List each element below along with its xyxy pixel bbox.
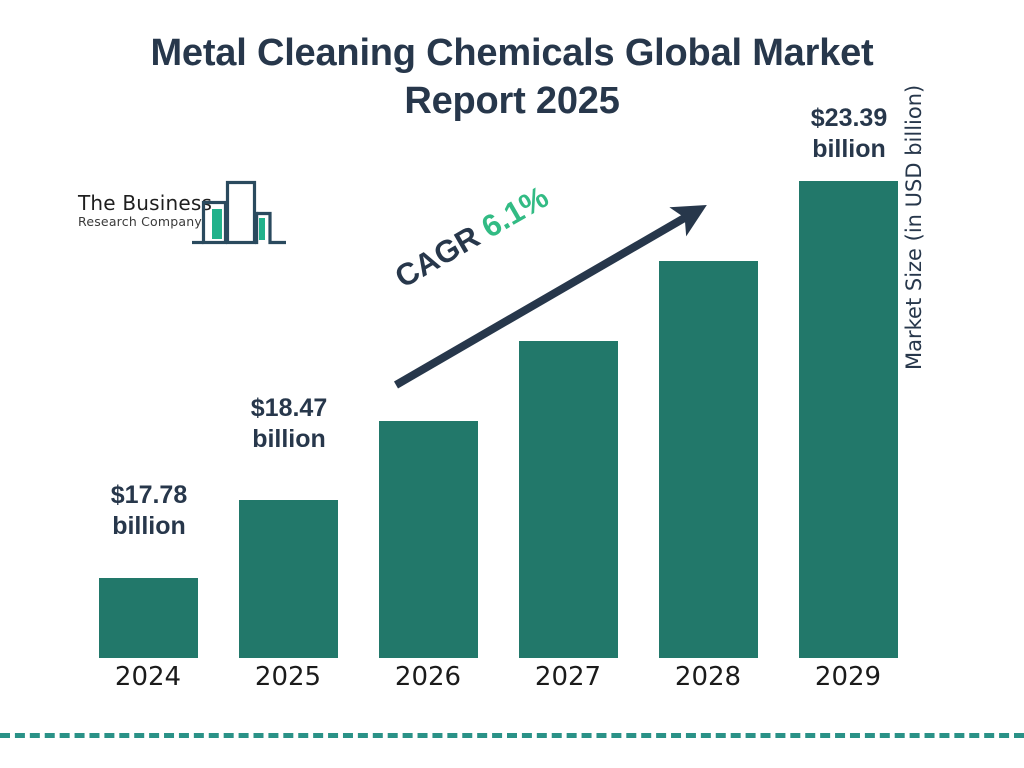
cagr-annotation-value: 6.1% [476, 179, 555, 245]
bar-2029[interactable] [799, 181, 898, 658]
bar-chart-plot: $17.78 billion $18.47 billion $23.39 bil… [0, 0, 1024, 768]
y-axis-title: Market Size (in USD billion) [902, 30, 926, 370]
bar-value-2029-amount: $23.39 [789, 103, 909, 134]
x-axis-label-2029: 2029 [788, 662, 908, 692]
x-axis-label-2028: 2028 [648, 662, 768, 692]
cagr-annotation-word: CAGR [389, 214, 493, 294]
bar-value-2029-unit: billion [789, 134, 909, 165]
bar-value-2025: $18.47 billion [229, 393, 349, 456]
x-axis-label-2024: 2024 [88, 662, 208, 692]
bar-2028[interactable] [659, 261, 758, 658]
bar-value-2024-amount: $17.78 [89, 480, 209, 511]
bar-value-2029: $23.39 billion [789, 103, 909, 166]
bar-2025[interactable] [239, 500, 338, 658]
bar-value-2024: $17.78 billion [89, 480, 209, 543]
footer-divider [0, 733, 1024, 738]
bar-2026[interactable] [379, 421, 478, 658]
x-axis-label-2025: 2025 [228, 662, 348, 692]
x-axis-label-2027: 2027 [508, 662, 628, 692]
bar-value-2025-unit: billion [229, 424, 349, 455]
bar-2024[interactable] [99, 578, 198, 658]
x-axis-label-2026: 2026 [368, 662, 488, 692]
cagr-annotation: CAGR 6.1% [389, 179, 555, 295]
chart-page: Metal Cleaning Chemicals Global Market R… [0, 0, 1024, 768]
bar-value-2025-amount: $18.47 [229, 393, 349, 424]
bar-2027[interactable] [519, 341, 618, 658]
bar-value-2024-unit: billion [89, 511, 209, 542]
